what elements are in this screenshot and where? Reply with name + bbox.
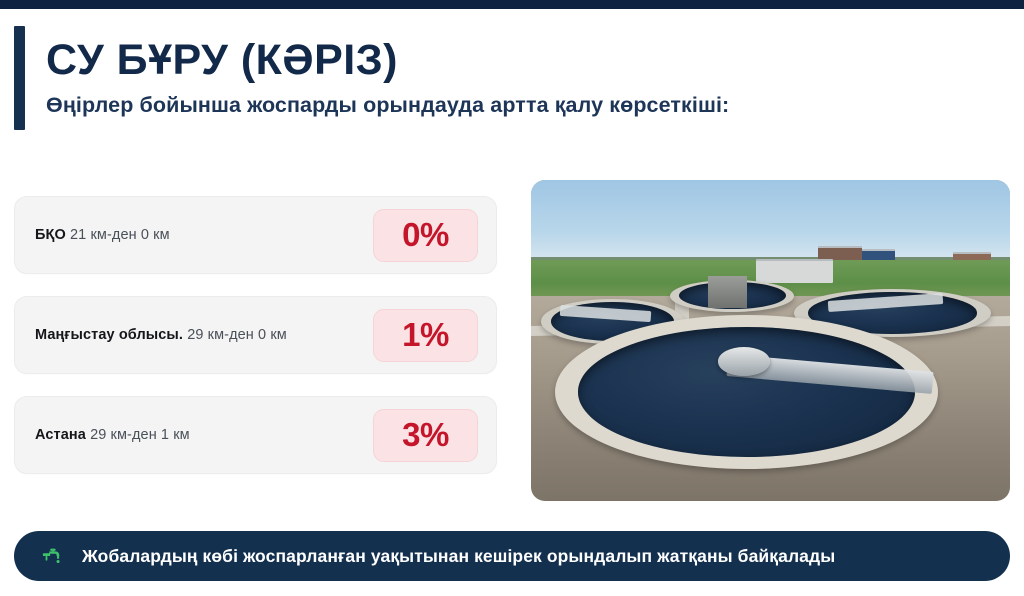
- stat-card-2[interactable]: Маңғыстау облысы. 29 км-ден 0 км 1%: [14, 296, 497, 374]
- photo-control-building: [756, 259, 833, 283]
- stat-detail-2: 29 км-ден 0 км: [187, 327, 287, 343]
- page-title: СУ БҰРУ (КӘРІЗ): [46, 38, 729, 83]
- page-subtitle: Өңірлер бойынша жоспарды орындауда артта…: [46, 93, 729, 118]
- header-accent-bar: [14, 26, 25, 130]
- stat-badge-2: 1%: [373, 309, 478, 362]
- stat-label-1: БҚО 21 км-ден 0 км: [35, 227, 373, 243]
- photo-canvas: [531, 180, 1010, 501]
- water-treatment-plant-photo: [531, 180, 1010, 501]
- stat-card-1[interactable]: БҚО 21 км-ден 0 км 0%: [14, 196, 497, 274]
- bottom-note-banner: Жобалардың көбі жоспарланған уақытынан к…: [14, 531, 1010, 581]
- faucet-icon: [40, 545, 64, 567]
- stat-detail-1: 21 км-ден 0 км: [70, 227, 170, 243]
- stat-badge-3: 3%: [373, 409, 478, 462]
- stat-label-3: Астана 29 км-ден 1 км: [35, 427, 373, 443]
- stat-badge-1: 0%: [373, 209, 478, 262]
- banner-text: Жобалардың көбі жоспарланған уақытынан к…: [82, 546, 835, 567]
- stats-list: БҚО 21 км-ден 0 км 0% Маңғыстау облысы. …: [14, 196, 497, 474]
- stat-label-2: Маңғыстау облысы. 29 км-ден 0 км: [35, 327, 373, 343]
- header-text-block: СУ БҰРУ (КӘРІЗ) Өңірлер бойынша жоспарды…: [25, 26, 729, 130]
- photo-clarifier-tank-main: [555, 315, 938, 469]
- stat-detail-3: 29 км-ден 1 км: [90, 427, 190, 443]
- photo-pump-house: [708, 276, 746, 308]
- top-accent-strip: [0, 0, 1024, 9]
- photo-tank-hub: [718, 347, 771, 376]
- stat-region-1: БҚО: [35, 227, 66, 243]
- stat-card-3[interactable]: Астана 29 км-ден 1 км 3%: [14, 396, 497, 474]
- stat-region-2: Маңғыстау облысы.: [35, 327, 183, 343]
- stat-region-3: Астана: [35, 427, 86, 443]
- page-header: СУ БҰРУ (КӘРІЗ) Өңірлер бойынша жоспарды…: [14, 26, 994, 130]
